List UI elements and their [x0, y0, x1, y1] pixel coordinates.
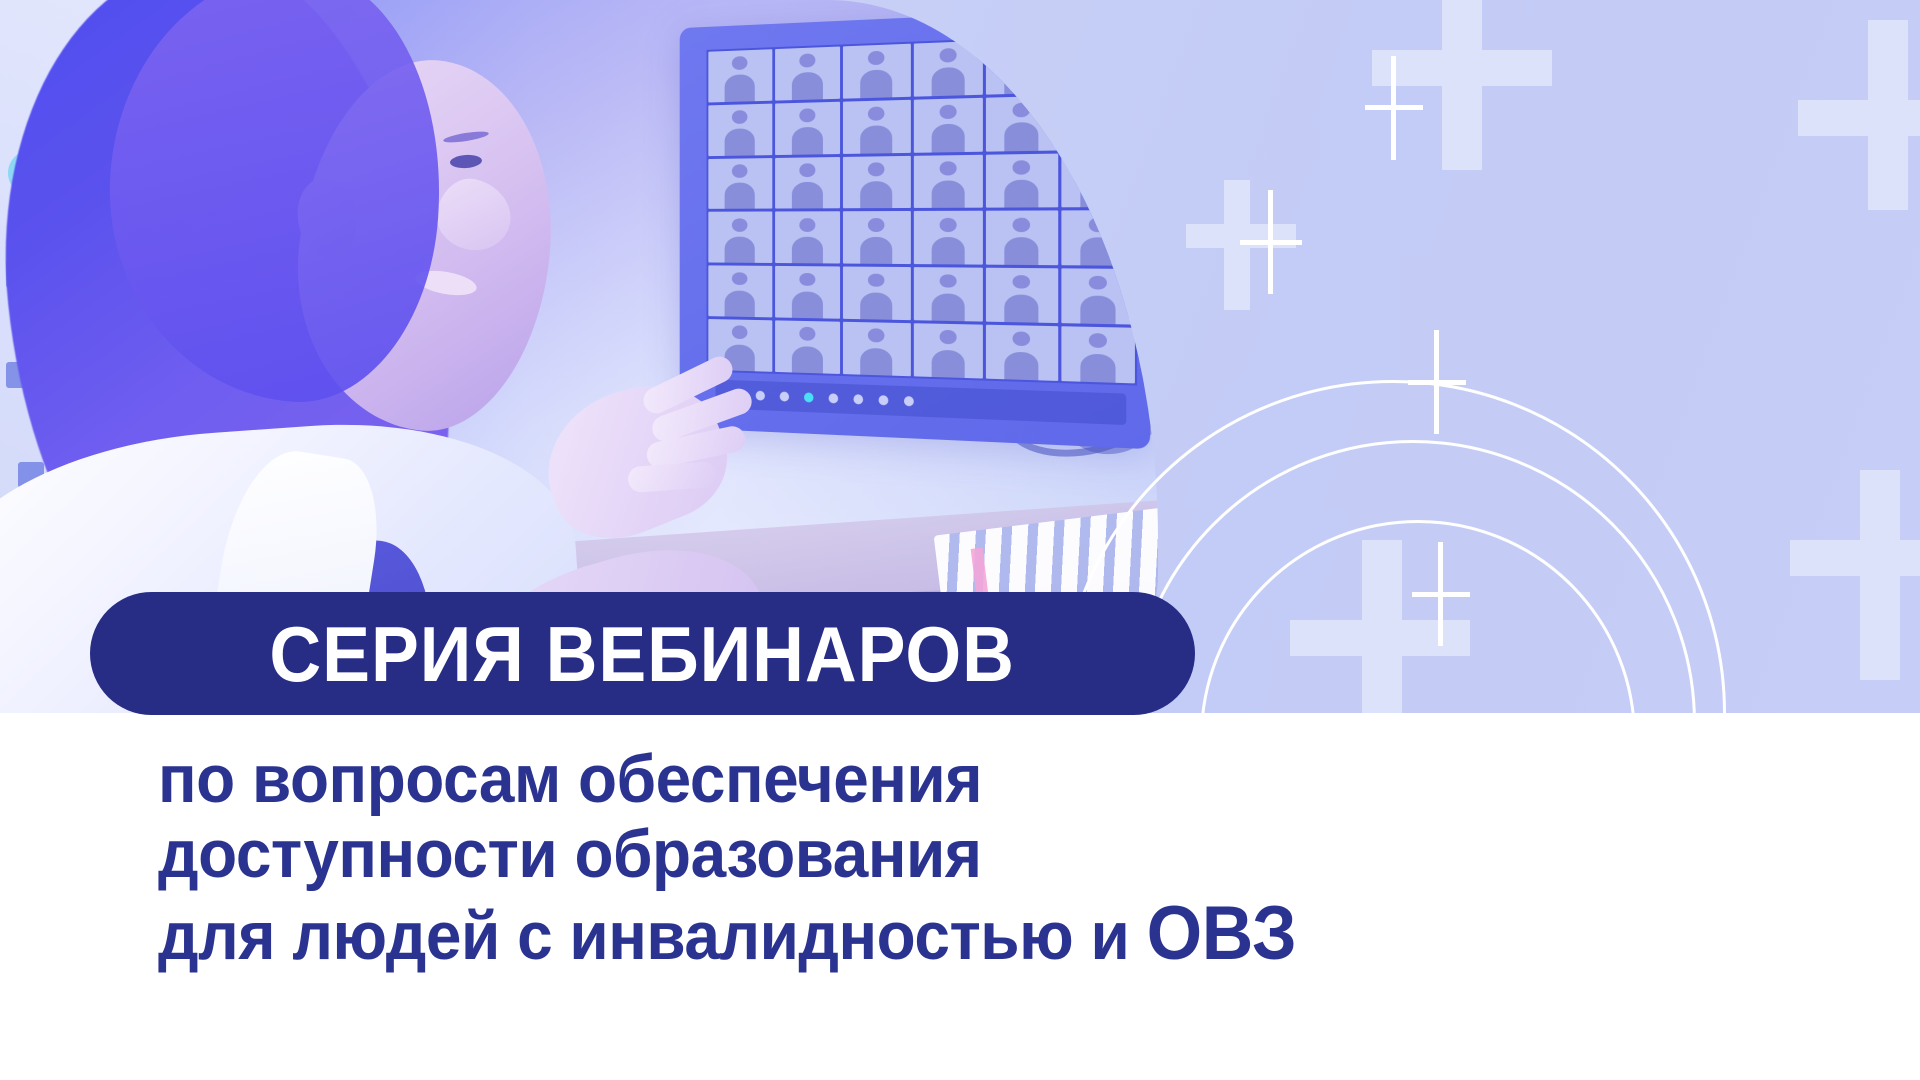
participant-tile [913, 211, 983, 265]
series-badge-label: СЕРИЯ ВЕБИНАРОВ [270, 615, 1015, 693]
participant-tile [843, 100, 910, 154]
camera-icon [756, 391, 765, 401]
logo-column: • ИНСТИТУТ РАЗВИТИЯ • ПРОФЕССИОНАЛЬНОГО … [1520, 0, 1920, 713]
reactions-icon [879, 395, 889, 405]
participant-tile [775, 102, 840, 155]
chat-icon [829, 393, 839, 403]
participant-tile [1061, 326, 1135, 383]
participant-tile [708, 103, 772, 155]
participant-tile [913, 154, 983, 208]
participant-tile [708, 49, 772, 102]
participant-tile [986, 325, 1058, 381]
participant-tile [986, 211, 1058, 266]
headline-line-3-emphasis: ОВЗ [1147, 891, 1297, 976]
participant-tile [708, 266, 772, 318]
participants-icon [780, 392, 789, 402]
participant-tile [775, 266, 840, 319]
more-options-icon [904, 396, 914, 406]
participant-tile [775, 212, 840, 264]
headline-line-2: доступности образования [158, 817, 1681, 892]
participant-tile [775, 157, 840, 209]
participant-tile [843, 44, 910, 99]
participant-tile [986, 96, 1058, 152]
record-icon [853, 394, 863, 404]
participant-tile [775, 47, 840, 101]
participant-tile [843, 322, 910, 376]
series-badge: СЕРИЯ ВЕБИНАРОВ [90, 592, 1195, 715]
share-screen-icon [804, 392, 813, 402]
participant-tile [1061, 35, 1135, 93]
headline-line-3: для людей с инвалидностью и ОВЗ [158, 892, 1681, 976]
participant-tile [986, 268, 1058, 323]
participant-tile [843, 211, 910, 264]
headline-line-1: по вопросам обеспечения [158, 742, 1681, 817]
participant-tile [1061, 269, 1135, 325]
participant-tile [913, 267, 983, 321]
headline-line-3-prefix: для людей с инвалидностью и [158, 898, 1147, 974]
participant-tile [986, 153, 1058, 208]
participant-tile [843, 267, 910, 320]
participant-tile [775, 321, 840, 374]
participant-tile [913, 98, 983, 153]
participant-tile [843, 156, 910, 209]
video-conference-grid [707, 33, 1138, 386]
webinar-poster: • ИНСТИТУТ РАЗВИТИЯ • ПРОФЕССИОНАЛЬНОГО … [0, 0, 1920, 1080]
participant-tile [1061, 152, 1135, 208]
participant-tile [708, 158, 772, 210]
headline-block: по вопросам обеспечения доступности обра… [158, 742, 1681, 975]
video-call-toolbar [716, 380, 1127, 425]
participant-tile [1061, 211, 1135, 266]
participant-tile [708, 212, 772, 263]
participant-tile [913, 41, 983, 97]
monitor [680, 7, 1150, 449]
participant-tile [913, 323, 983, 378]
participant-tile [986, 38, 1058, 95]
participant-tile [1061, 93, 1135, 150]
